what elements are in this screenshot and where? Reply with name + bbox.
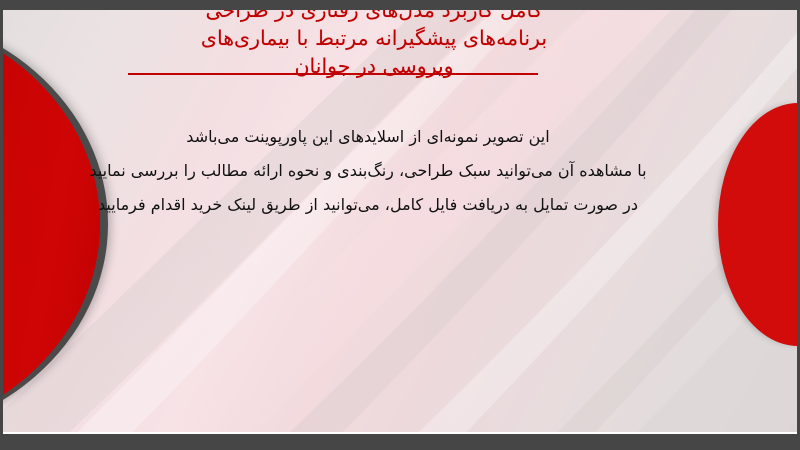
presentation-slide: کامل کاربرد مدل‌های رفتاری در طراحی برنا…	[0, 0, 800, 450]
slide-body-line-3: در صورت تمایل به دریافت فایل کامل، می‌تو…	[32, 188, 704, 222]
title-divider-rule	[128, 73, 538, 75]
slide-title-line-3: ویروسی در جوانان	[44, 52, 704, 80]
slide-title-line-2: برنامه‌های پیشگیرانه مرتبط با بیماری‌های	[44, 24, 704, 52]
top-frame-bar	[0, 0, 800, 10]
slide-body-text: این تصویر نمونه‌ای از اسلایدهای این پاور…	[32, 120, 704, 222]
slide-body-line-2: با مشاهده آن می‌توانید سبک طراحی، رنگ‌بن…	[32, 154, 704, 188]
left-frame-bar	[0, 0, 3, 450]
slide-title: کامل کاربرد مدل‌های رفتاری در طراحی برنا…	[44, 0, 704, 80]
slide-body-line-1: این تصویر نمونه‌ای از اسلایدهای این پاور…	[32, 120, 704, 154]
bottom-frame-bar	[0, 434, 800, 450]
